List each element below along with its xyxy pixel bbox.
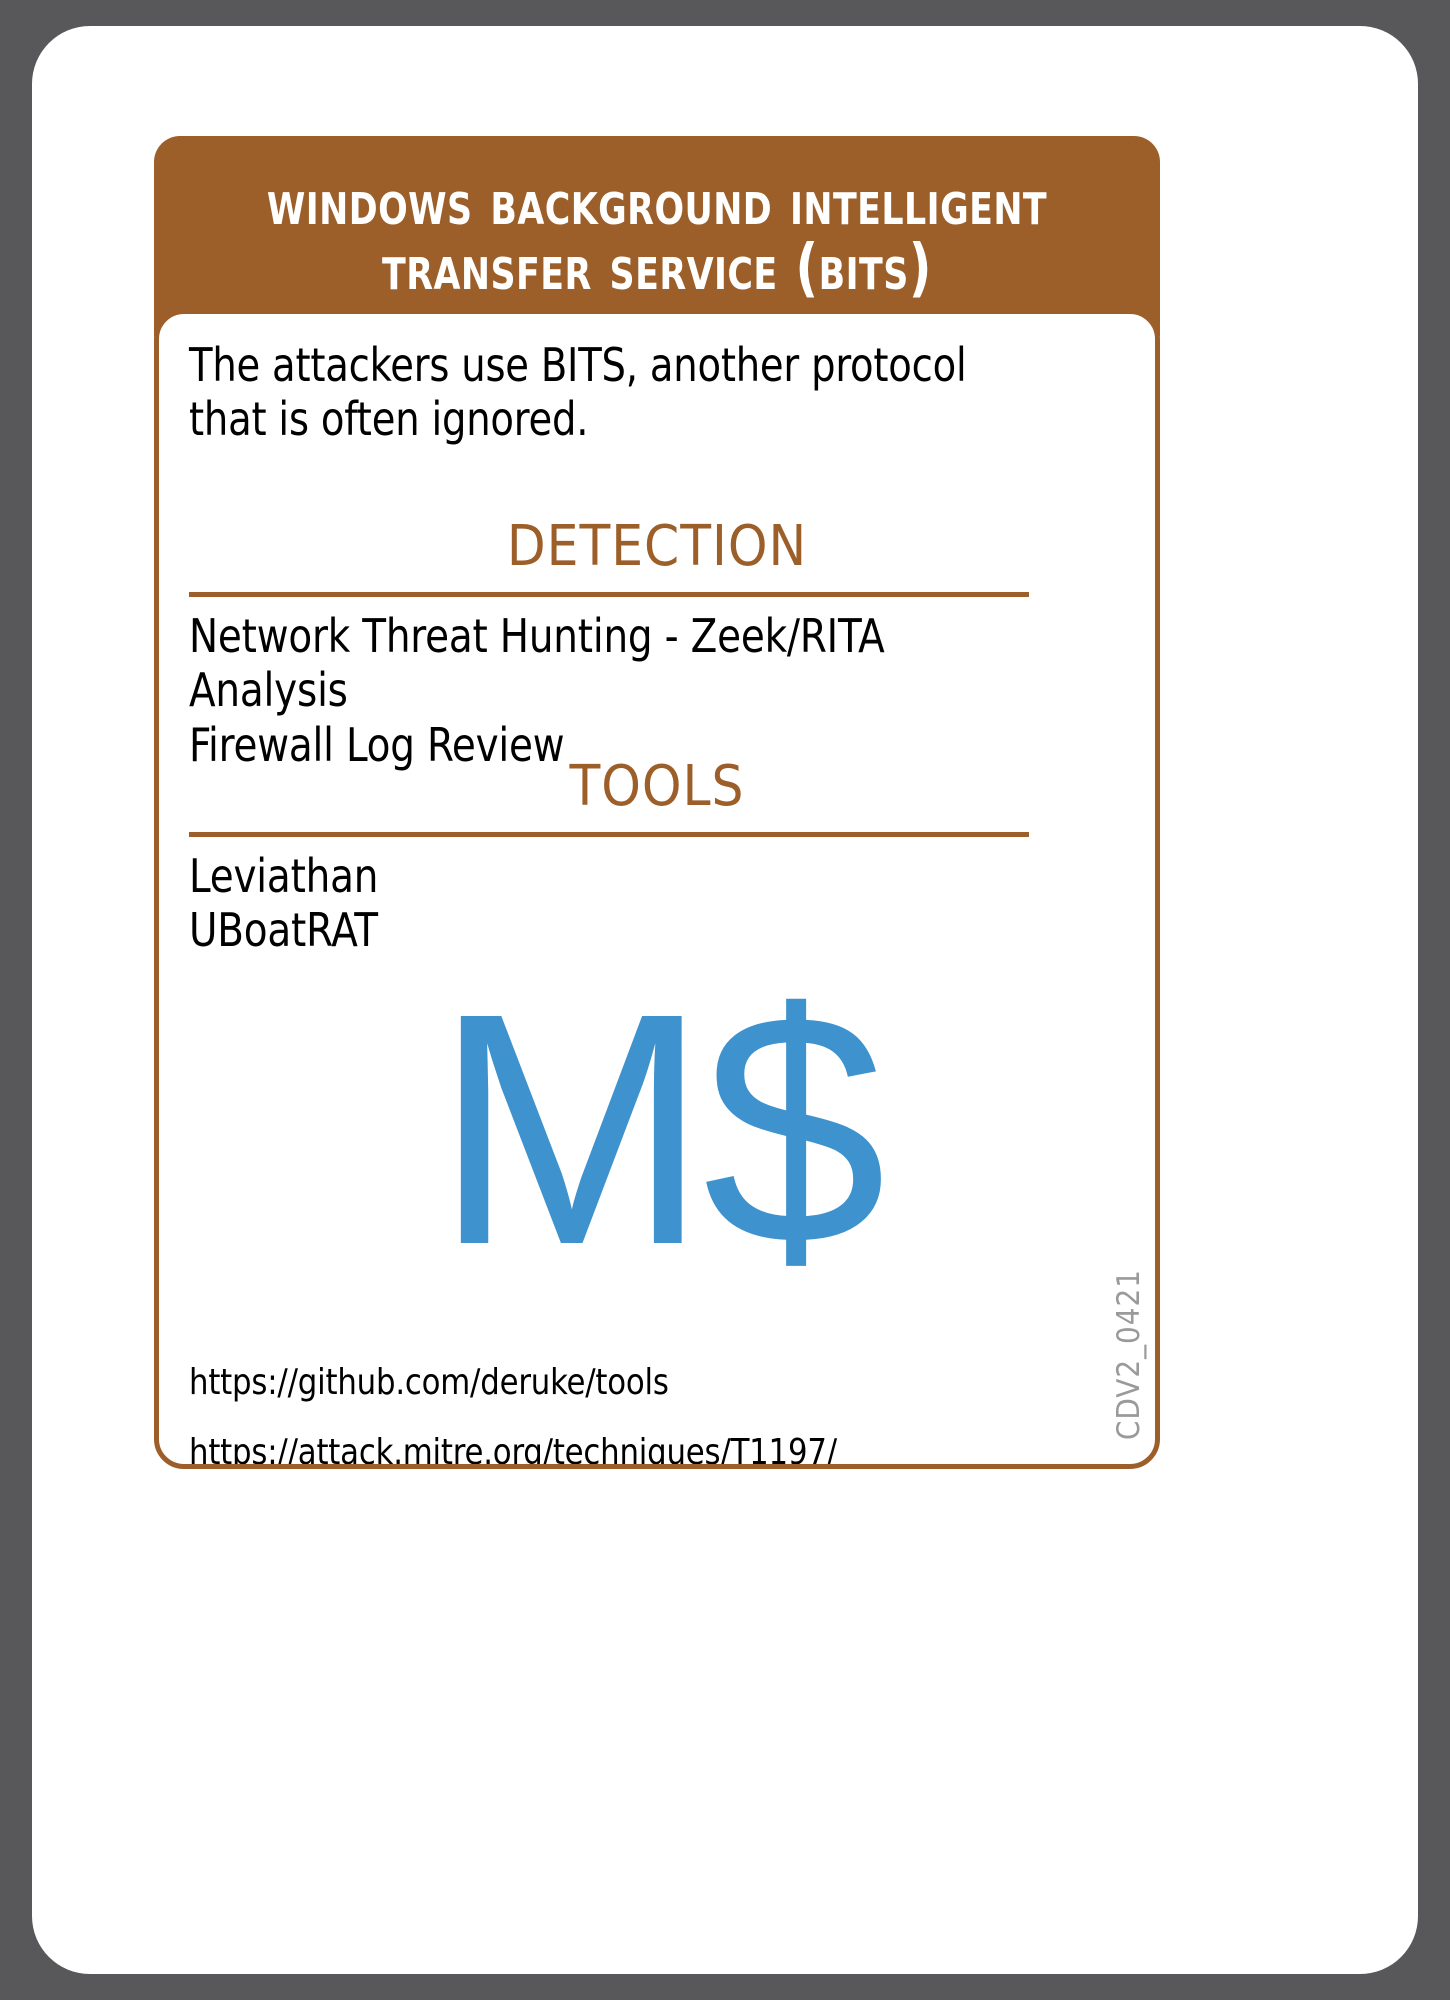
card-body-content: The attackers use BITS, another protocol… bbox=[159, 314, 1155, 1464]
card-body-panel: The attackers use BITS, another protocol… bbox=[154, 309, 1160, 1469]
detection-list: Network Threat Hunting - Zeek/RITA Analy… bbox=[189, 609, 1016, 772]
card-title: Windows Background Intelligent Transfer … bbox=[226, 171, 1088, 301]
section-divider-detection bbox=[189, 592, 1029, 597]
reference-link-github[interactable]: https://github.com/deruke/tools bbox=[189, 1362, 669, 1403]
reference-link-mitre[interactable]: https://attack.mitre.org/techniques/T119… bbox=[189, 1432, 837, 1469]
tools-list: Leviathan UBoatRAT bbox=[189, 849, 1016, 958]
card-header: Windows Background Intelligent Transfer … bbox=[154, 136, 1160, 336]
card-surface: Windows Background Intelligent Transfer … bbox=[32, 26, 1418, 1974]
section-divider-tools bbox=[189, 832, 1029, 837]
card-description: The attackers use BITS, another protocol… bbox=[189, 339, 998, 447]
microsoft-dollar-watermark-icon: M$ bbox=[159, 964, 1155, 1294]
version-code-label: CDV2_0421 bbox=[1111, 1269, 1147, 1440]
section-heading-detection: DETECTION bbox=[159, 519, 1155, 575]
section-heading-tools: TOOLS bbox=[159, 759, 1155, 815]
